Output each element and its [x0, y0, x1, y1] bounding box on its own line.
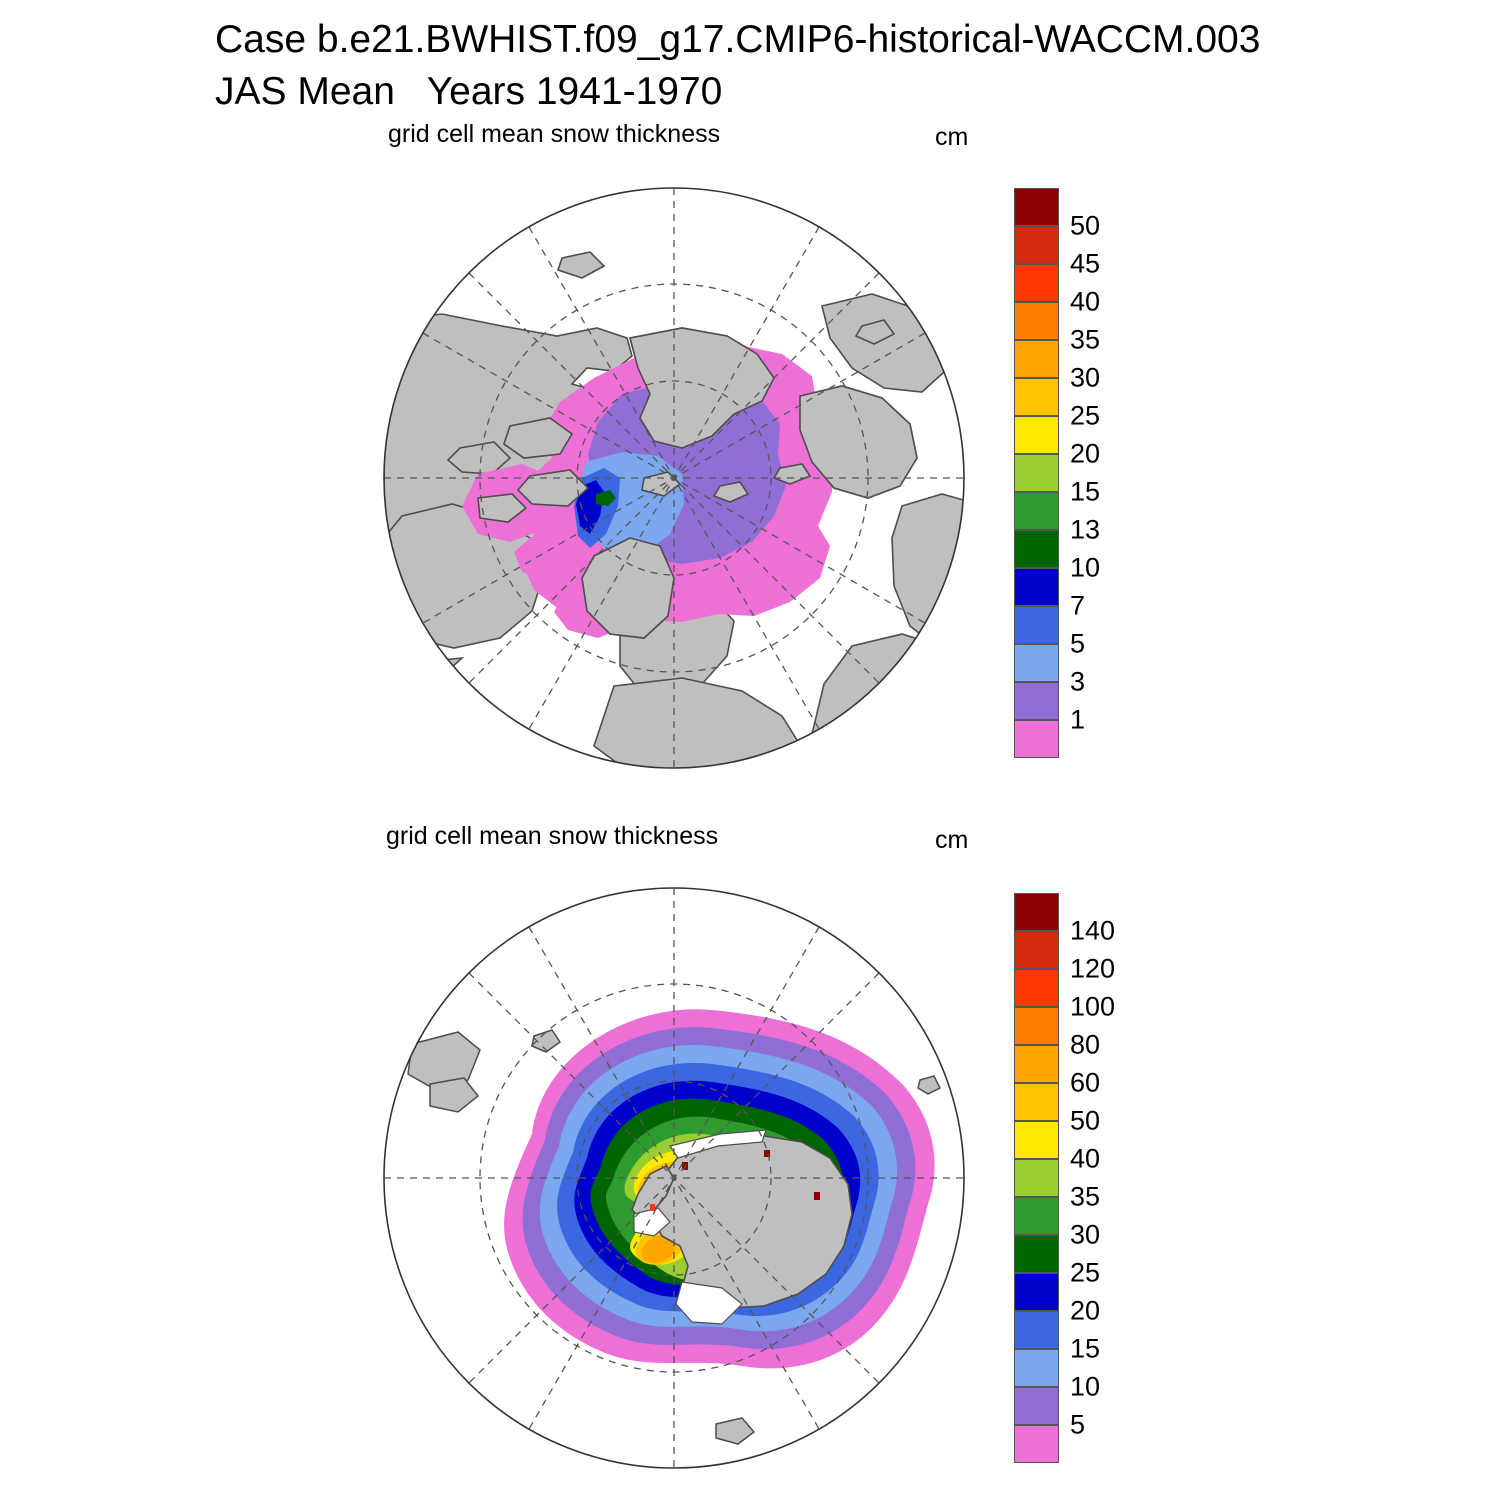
- antarctic-colorbar-swatch-8: [1014, 1197, 1059, 1235]
- arctic-colorbar-tick-10: 10: [1070, 555, 1100, 582]
- antarctic-colorbar-tick-35: 35: [1070, 1184, 1100, 1211]
- arctic-colorbar-swatch-5: [1014, 378, 1059, 416]
- antarctic-colorbar-tick-80: 80: [1070, 1032, 1100, 1059]
- antarctic-colorbar-swatch-7: [1014, 1159, 1059, 1197]
- arctic-colorbar-tick-30: 30: [1070, 365, 1100, 392]
- arctic-colorbar-tick-1: 1: [1070, 707, 1085, 734]
- arctic-colorbar-tick-35: 35: [1070, 327, 1100, 354]
- arctic-colorbar-tick-40: 40: [1070, 289, 1100, 316]
- arctic-colorbar-tick-7: 7: [1070, 593, 1085, 620]
- figure-title: Case b.e21.BWHIST.f09_g17.CMIP6-historic…: [215, 14, 1415, 118]
- arctic-colorbar-tick-50: 50: [1070, 213, 1100, 240]
- arctic-colorbar-swatch-12: [1014, 644, 1059, 682]
- antarctic-colorbar-tick-15: 15: [1070, 1336, 1100, 1363]
- antarctic-colorbar-tick-10: 10: [1070, 1374, 1100, 1401]
- arctic-colorbar-swatch-0: [1014, 188, 1059, 226]
- antarctic-colorbar-swatch-12: [1014, 1349, 1059, 1387]
- arctic-colorbar-tick-15: 15: [1070, 479, 1100, 506]
- arctic-colorbar-swatch-6: [1014, 416, 1059, 454]
- antarctic-colorbar-tick-140: 140: [1070, 918, 1115, 945]
- antarctic-colorbar-tick-100: 100: [1070, 994, 1115, 1021]
- antarctic-panel-label: grid cell mean snow thickness: [386, 822, 718, 851]
- antarctic-band-100-120cm-1: [650, 1204, 655, 1211]
- arctic-colorbar-tick-45: 45: [1070, 251, 1100, 278]
- antarctic-colorbar-tick-30: 30: [1070, 1222, 1100, 1249]
- arctic-panel-label: grid cell mean snow thickness: [388, 120, 720, 149]
- antarctic-map-svg: [382, 884, 967, 1472]
- arctic-map[interactable]: [382, 186, 967, 774]
- title-line-2: JAS Mean Years 1941-1970: [215, 70, 722, 113]
- antarctic-colorbar-swatch-1: [1014, 931, 1059, 969]
- arctic-colorbar-swatch-13: [1014, 682, 1059, 720]
- arctic-colorbar-swatch-14: [1014, 720, 1059, 758]
- antarctic-colorbar-swatch-5: [1014, 1083, 1059, 1121]
- antarctic-colorbar-tick-60: 60: [1070, 1070, 1100, 1097]
- antarctic-colorbar-tick-40: 40: [1070, 1146, 1100, 1173]
- antarctic-colorbar-swatch-13: [1014, 1387, 1059, 1425]
- arctic-colorbar-swatch-1: [1014, 226, 1059, 264]
- antarctic-colorbar-tick-5: 5: [1070, 1412, 1085, 1439]
- arctic-colorbar-tick-5: 5: [1070, 631, 1085, 658]
- arctic-colorbar-tick-20: 20: [1070, 441, 1100, 468]
- arctic-colorbar-swatch-9: [1014, 530, 1059, 568]
- antarctic-colorbar-tick-25: 25: [1070, 1260, 1100, 1287]
- antarctic-colorbar-swatch-9: [1014, 1235, 1059, 1273]
- antarctic-colorbar-swatch-10: [1014, 1273, 1059, 1311]
- arctic-colorbar-tick-3: 3: [1070, 669, 1085, 696]
- antarctic-colorbar-swatch-0: [1014, 893, 1059, 931]
- antarctic-colorbar-swatch-2: [1014, 969, 1059, 1007]
- arctic-colorbar-swatch-10: [1014, 568, 1059, 606]
- antarctic-map[interactable]: [382, 884, 967, 1472]
- arctic-map-svg: [382, 186, 967, 774]
- antarctic-colorbar-swatch-11: [1014, 1311, 1059, 1349]
- arctic-colorbar[interactable]: 504540353025201513107531: [1014, 188, 1164, 758]
- antarctic-colorbar-tick-20: 20: [1070, 1298, 1100, 1325]
- arctic-colorbar-swatch-3: [1014, 302, 1059, 340]
- antarctic-unit-label: cm: [935, 826, 968, 855]
- antarctic-colorbar-swatch-3: [1014, 1007, 1059, 1045]
- antarctic-colorbar[interactable]: 140120100806050403530252015105: [1014, 893, 1164, 1463]
- arctic-colorbar-swatch-11: [1014, 606, 1059, 644]
- title-line-1: Case b.e21.BWHIST.f09_g17.CMIP6-historic…: [215, 18, 1260, 61]
- antarctic-colorbar-swatch-14: [1014, 1425, 1059, 1463]
- antarctic-colorbar-tick-50: 50: [1070, 1108, 1100, 1135]
- arctic-colorbar-tick-13: 13: [1070, 517, 1100, 544]
- arctic-unit-label: cm: [935, 123, 968, 152]
- arctic-colorbar-swatch-7: [1014, 454, 1059, 492]
- arctic-colorbar-swatch-8: [1014, 492, 1059, 530]
- arctic-colorbar-swatch-2: [1014, 264, 1059, 302]
- antarctic-colorbar-swatch-6: [1014, 1121, 1059, 1159]
- arctic-colorbar-swatch-4: [1014, 340, 1059, 378]
- antarctic-colorbar-tick-120: 120: [1070, 956, 1115, 983]
- antarctic-band-120-140cm-3: [814, 1192, 820, 1200]
- antarctic-colorbar-swatch-4: [1014, 1045, 1059, 1083]
- arctic-colorbar-tick-25: 25: [1070, 403, 1100, 430]
